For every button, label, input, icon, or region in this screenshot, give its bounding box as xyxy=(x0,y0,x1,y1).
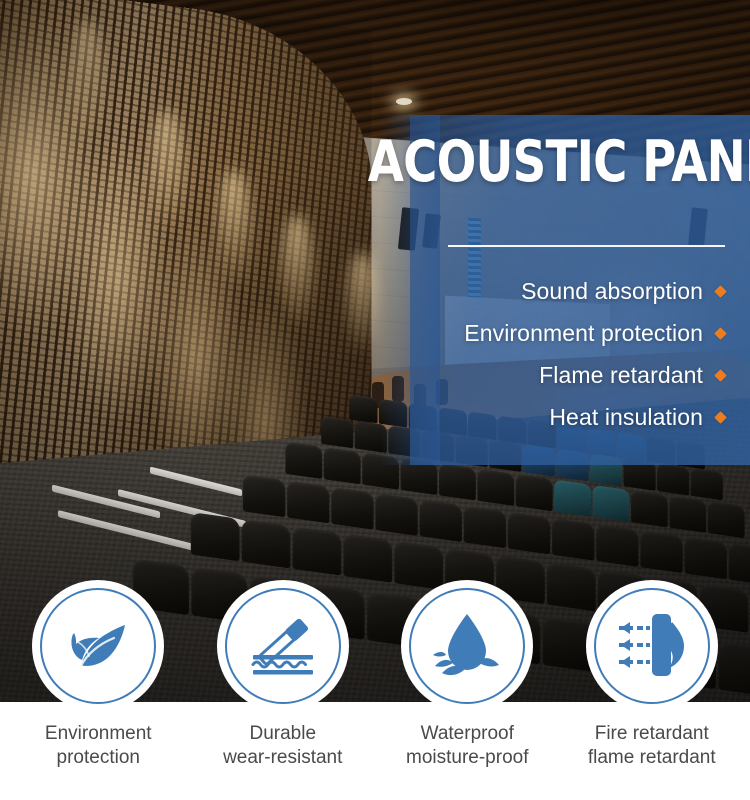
feature-card-environment-protection: Environment protection xyxy=(11,588,186,771)
title-block: ACOUSTIC PANEL xyxy=(330,132,750,192)
feature-card-waterproof: Waterproof moisture-proof xyxy=(380,588,555,771)
feature-label: Heat insulation xyxy=(549,404,703,431)
ceiling-downlight xyxy=(396,98,412,105)
wall-light-pool xyxy=(282,215,312,325)
leaf-icon xyxy=(61,609,135,683)
diamond-bullet-icon xyxy=(714,369,727,382)
water-drop-icon xyxy=(429,608,505,684)
fire-panel-icon xyxy=(612,608,692,684)
feature-card-label: Waterproof moisture-proof xyxy=(406,722,529,771)
list-item: Environment protection xyxy=(400,314,725,352)
feature-label: Flame retardant xyxy=(539,362,703,389)
diamond-bullet-icon xyxy=(714,285,727,298)
page-title: ACOUSTIC PANEL xyxy=(368,132,712,192)
feature-icon-strip: Environment protection Durable wear-resi… xyxy=(0,588,750,800)
list-item: Flame retardant xyxy=(400,356,725,394)
diamond-bullet-icon xyxy=(714,411,727,424)
feature-card-label: Durable wear-resistant xyxy=(223,722,342,771)
feature-label: Environment protection xyxy=(464,320,703,347)
wall-light-pool xyxy=(348,252,376,352)
list-item: Sound absorption xyxy=(400,272,725,310)
icon-circle xyxy=(594,588,710,704)
title-divider xyxy=(448,245,725,247)
feature-card-durable-wear-resistant: Durable wear-resistant xyxy=(195,588,370,771)
blade-wear-icon xyxy=(244,609,322,683)
list-item: Heat insulation xyxy=(400,398,725,436)
wall-light-pool xyxy=(218,170,250,285)
wall-light-pool xyxy=(150,110,184,230)
icon-circle xyxy=(225,588,341,704)
feature-card-fire-retardant: Fire retardant flame retardant xyxy=(564,588,739,771)
feature-list: Sound absorption Environment protection … xyxy=(400,272,725,436)
wall-light-pool xyxy=(70,20,104,140)
acoustic-panel-banner: ACOUSTIC PANEL Sound absorption Environm… xyxy=(0,0,750,800)
diamond-bullet-icon xyxy=(714,327,727,340)
feature-label: Sound absorption xyxy=(521,278,703,305)
feature-card-label: Fire retardant flame retardant xyxy=(588,722,716,771)
icon-circle xyxy=(40,588,156,704)
feature-card-label: Environment protection xyxy=(45,722,152,771)
icon-circle xyxy=(409,588,525,704)
